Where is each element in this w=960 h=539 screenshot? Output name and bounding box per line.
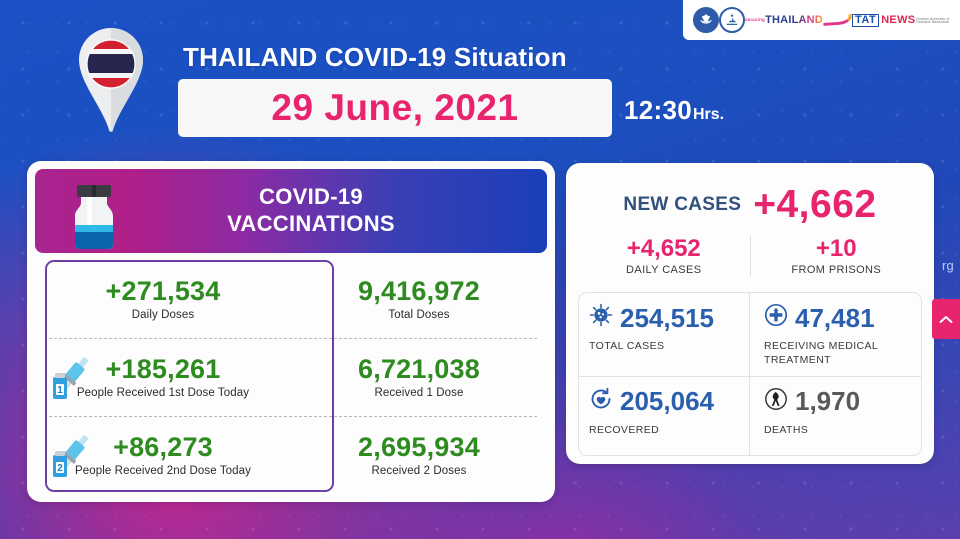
from-prisons-label: FROM PRISONS — [751, 264, 923, 276]
stat-first-dose-today: 1 +185,261 People Received 1st Dose Toda… — [35, 338, 291, 416]
infographic-page: amazing THAILAND TAT NEWS Tourism Author… — [0, 0, 960, 539]
syringe-dose-1-icon: 1 — [49, 351, 93, 403]
date-banner: 29 June, 2021 — [178, 79, 612, 137]
stat-received-2-doses: 2,695,934 Received 2 Doses — [291, 416, 547, 494]
stat-received-1-dose: 6,721,038 Received 1 Dose — [291, 338, 547, 416]
tat-news-tat-text: TAT — [852, 14, 879, 27]
svg-text:2: 2 — [57, 463, 63, 474]
daily-cases-value: +4,652 — [578, 236, 750, 261]
vaccinations-title-line2: VACCINATIONS — [227, 211, 395, 236]
logo-bar: amazing THAILAND TAT NEWS Tourism Author… — [683, 0, 960, 40]
first-dose-today-value: +185,261 — [106, 355, 221, 383]
scroll-to-top-button[interactable] — [932, 299, 960, 339]
daily-cases-label: DAILY CASES — [578, 264, 750, 276]
daily-doses-value: +271,534 — [106, 277, 221, 305]
amazing-thailand-big-text: THAILAND — [765, 15, 823, 26]
department-seal-icon — [719, 7, 745, 33]
stat-total-doses: 9,416,972 Total Doses — [291, 260, 547, 338]
daily-doses-label: Daily Doses — [132, 309, 194, 321]
deaths-label: DEATHS — [764, 423, 913, 437]
total-doses-label: Total Doses — [388, 309, 449, 321]
amazing-thailand-swoosh-icon — [823, 14, 853, 26]
virus-icon — [589, 303, 613, 332]
received-2-doses-value: 2,695,934 — [358, 433, 480, 461]
total-doses-value: 9,416,972 — [358, 277, 480, 305]
stat-receiving-treatment: 47,481 RECEIVING MEDICAL TREATMENT — [750, 293, 921, 376]
second-dose-today-value: +86,273 — [113, 433, 213, 461]
cases-card: NEW CASES +4,662 +4,652 DAILY CASES +10 … — [566, 163, 934, 464]
amazing-thailand-logo: amazing THAILAND — [745, 15, 852, 26]
tat-news-news-text: NEWS — [881, 15, 915, 26]
recovered-value: 205,064 — [620, 388, 714, 414]
vaccinations-card: COVID-19 VACCINATIONS +271,534 Daily Dos… — [27, 161, 555, 502]
stat-recovered: 205,064 RECOVERED — [579, 377, 750, 456]
receiving-treatment-label: RECEIVING MEDICAL TREATMENT — [764, 339, 913, 367]
total-cases-label: TOTAL CASES — [589, 339, 741, 353]
svg-text:1: 1 — [57, 385, 63, 396]
stat-from-prisons: +10 FROM PRISONS — [750, 236, 923, 276]
stat-deaths: 1,970 DEATHS — [750, 377, 921, 456]
chevron-up-icon — [939, 315, 953, 324]
received-1-dose-label: Received 1 Dose — [374, 387, 463, 399]
amazing-thailand-small-text: amazing — [745, 18, 765, 23]
truncated-page-text: rg — [942, 258, 954, 273]
new-cases-value: +4,662 — [753, 185, 876, 224]
date-text: 29 June, 2021 — [271, 87, 518, 129]
tat-news-tagline: Tourism Authority of Thailand Newsroom — [915, 18, 950, 25]
time-unit-text: Hrs. — [693, 106, 724, 124]
first-dose-today-label: People Received 1st Dose Today — [77, 387, 249, 399]
stat-total-cases: 254,515 TOTAL CASES — [579, 293, 750, 376]
syringe-dose-2-icon: 2 — [49, 429, 93, 481]
stat-second-dose-today: 2 +86,273 People Received 2nd Dose Today — [35, 416, 291, 494]
time-text: 12:30 — [624, 95, 692, 126]
thailand-flag-pin-icon — [72, 26, 150, 134]
new-cases-label: NEW CASES — [623, 194, 741, 216]
recovery-heart-icon — [589, 387, 613, 416]
timestamp: 12:30 Hrs. — [624, 95, 724, 126]
stat-daily-cases: +4,652 DAILY CASES — [578, 236, 750, 276]
new-cases-breakdown: +4,652 DAILY CASES +10 FROM PRISONS — [578, 236, 922, 286]
vaccinations-title: COVID-19 VACCINATIONS — [227, 184, 395, 238]
received-2-doses-label: Received 2 Doses — [372, 465, 467, 477]
total-cases-value: 254,515 — [620, 305, 714, 331]
receiving-treatment-value: 47,481 — [795, 305, 875, 331]
received-1-dose-value: 6,721,038 — [358, 355, 480, 383]
new-cases-row: NEW CASES +4,662 — [578, 185, 922, 224]
second-dose-today-label: People Received 2nd Dose Today — [75, 465, 251, 477]
medical-cross-icon — [764, 303, 788, 332]
stat-daily-doses: +271,534 Daily Doses — [35, 260, 291, 338]
page-title: THAILAND COVID-19 Situation — [183, 42, 567, 73]
case-stats-grid: 254,515 TOTAL CASES 47,481 RECEIVING MED… — [578, 292, 922, 456]
ministry-seal-icon — [693, 7, 719, 33]
recovered-label: RECOVERED — [589, 423, 741, 437]
vaccinations-stats-grid: +271,534 Daily Doses 9,416,972 Total Dos… — [35, 260, 547, 494]
mourning-ribbon-icon — [764, 387, 788, 416]
tat-news-logo: TAT NEWS Tourism Authority of Thailand N… — [852, 14, 950, 27]
deaths-value: 1,970 — [795, 388, 860, 414]
vaccine-bottle-icon — [63, 181, 125, 253]
from-prisons-value: +10 — [751, 236, 923, 261]
vaccinations-card-header: COVID-19 VACCINATIONS — [35, 169, 547, 253]
vaccinations-title-line1: COVID-19 — [259, 184, 363, 209]
